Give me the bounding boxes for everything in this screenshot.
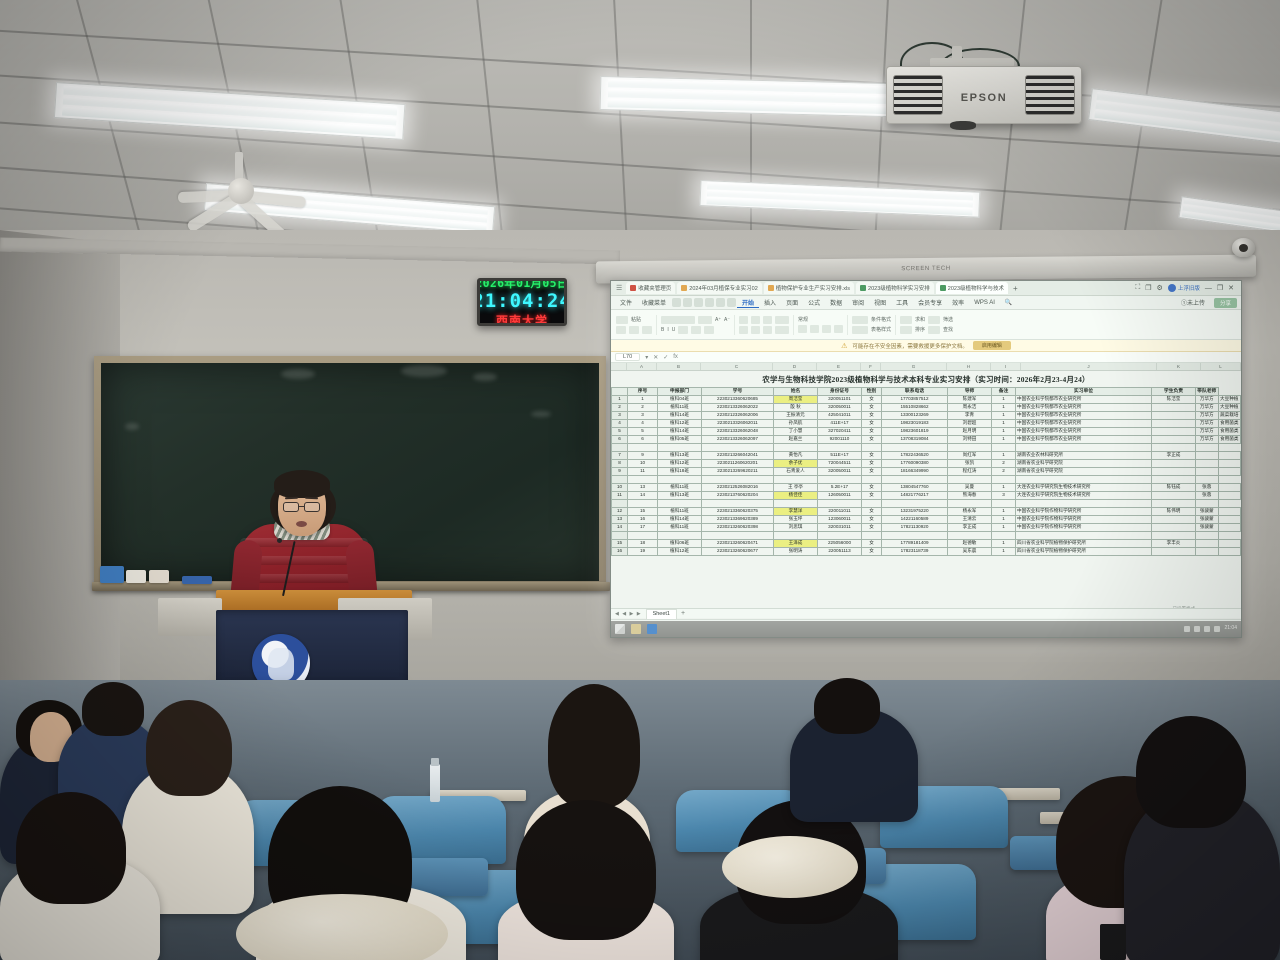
insert-function-icon[interactable]: fx xyxy=(673,354,678,360)
table-cell[interactable] xyxy=(1218,468,1241,476)
sheet-tab[interactable]: Sheet1 xyxy=(646,609,677,619)
table-cell[interactable] xyxy=(1016,476,1152,484)
table-cell[interactable]: 2230213326062048 xyxy=(702,428,774,436)
table-cell[interactable]: 2230213260620398 xyxy=(702,524,774,532)
table-row-blank[interactable] xyxy=(612,476,1241,484)
column-header-b[interactable]: B xyxy=(657,363,701,370)
table-cell[interactable] xyxy=(1196,452,1219,460)
home-icon[interactable] xyxy=(683,298,692,307)
table-cell[interactable]: 1 xyxy=(992,484,1016,492)
table-cell[interactable] xyxy=(992,444,1016,452)
filter-icon[interactable] xyxy=(928,316,940,324)
currency-icon[interactable] xyxy=(798,325,807,333)
table-cell[interactable]: 720044511 xyxy=(818,460,862,468)
undo-icon[interactable] xyxy=(716,298,725,307)
menu-item-favorites[interactable]: 收藏菜单 xyxy=(637,298,671,307)
table-cell[interactable]: 2230213326062097 xyxy=(702,436,774,444)
table-cell[interactable] xyxy=(1152,476,1196,484)
table-cell[interactable] xyxy=(948,444,992,452)
row-header[interactable]: 3 xyxy=(612,412,628,420)
chevron-down-icon[interactable]: ▾ xyxy=(645,354,648,361)
column-header-row[interactable]: A B C D E F G H I J K L xyxy=(611,363,1241,371)
table-cell[interactable]: 2230213360620375 xyxy=(702,508,774,516)
table-cell[interactable]: 植科05班 xyxy=(658,436,702,444)
column-header-f[interactable]: F xyxy=(861,363,881,370)
select-all-corner[interactable] xyxy=(611,363,627,370)
taskbar-clock[interactable]: 21:04 xyxy=(1224,626,1237,631)
table-cell[interactable]: 大豆种植 xyxy=(1218,396,1241,404)
table-cell[interactable]: 张蓉 xyxy=(1196,484,1219,492)
sheet-tab-bar[interactable]: ◀ ◀ ▶ ▶ Sheet1 + xyxy=(611,608,1241,618)
table-cell[interactable]: 2230213269620211 xyxy=(702,468,774,476)
table-cell[interactable] xyxy=(702,532,774,540)
table-cell[interactable] xyxy=(1196,476,1219,484)
table-cell[interactable]: 植科11班 xyxy=(658,404,702,412)
browser-icon[interactable] xyxy=(647,624,657,634)
fill-color-icon[interactable] xyxy=(691,326,701,334)
sum-icon[interactable] xyxy=(900,316,912,324)
copy-icon[interactable]: ❐ xyxy=(1145,284,1151,292)
new-tab-button[interactable]: + xyxy=(1010,284,1021,293)
table-cell[interactable]: 女 xyxy=(862,452,882,460)
row-header[interactable]: 15 xyxy=(612,540,628,548)
table-cell[interactable]: 1 xyxy=(992,396,1016,404)
table-cell[interactable] xyxy=(1218,452,1241,460)
battery-icon[interactable] xyxy=(1204,626,1210,632)
table-cell[interactable]: 2230213260620677 xyxy=(702,548,774,556)
font-group[interactable]: A⁺ A⁻ B I U xyxy=(661,316,730,334)
table-cell[interactable]: 320031011 xyxy=(818,524,862,532)
column-header-i[interactable]: I xyxy=(991,363,1021,370)
restore-icon[interactable]: ⛶ xyxy=(1135,284,1140,292)
table-row[interactable]: 810植科12班2230211260620201余子优720044511女177… xyxy=(612,460,1241,468)
menu-item-file[interactable]: 文件 xyxy=(615,298,637,307)
table-cell[interactable] xyxy=(1196,532,1219,540)
table-cell[interactable] xyxy=(948,476,992,484)
table-cell[interactable]: 17821130920 xyxy=(882,524,948,532)
table-cell[interactable] xyxy=(612,532,628,540)
table-body[interactable]: 11植科04班2230213360620685周洁莹320051101女1770… xyxy=(612,396,1241,556)
table-cell[interactable] xyxy=(658,444,702,452)
format-painter-icon[interactable] xyxy=(642,326,652,334)
italic-icon[interactable]: I xyxy=(667,327,668,333)
search-icon[interactable]: 🔍 xyxy=(1000,299,1017,306)
table-cell[interactable]: 中国农业科学院作物科学研究所 xyxy=(1016,524,1152,532)
row-header[interactable]: 11 xyxy=(612,492,628,500)
internship-table[interactable]: 序号 申报部门 学号 姓名 身份证号 性别 联系电话 导师 备注 实习单位 学生… xyxy=(611,387,1241,556)
table-cell[interactable] xyxy=(882,532,948,540)
font-size-select[interactable] xyxy=(698,316,712,324)
column-header-g[interactable]: G xyxy=(881,363,947,370)
maximize-button[interactable]: ❐ xyxy=(1217,284,1223,292)
table-cell[interactable]: 1 xyxy=(992,436,1016,444)
row-header[interactable]: 5 xyxy=(612,428,628,436)
table-cell[interactable]: 2230211260620201 xyxy=(702,460,774,468)
volume-icon[interactable] xyxy=(1194,626,1200,632)
table-cell[interactable]: 植科12班 xyxy=(658,548,702,556)
table-cell[interactable]: 石青爱人 xyxy=(774,468,818,476)
table-cell[interactable]: 511E+17 xyxy=(818,452,862,460)
hamburger-icon[interactable]: ☰ xyxy=(614,284,624,292)
table-cell[interactable]: 17 xyxy=(628,524,658,532)
table-cell[interactable]: 225056000 xyxy=(818,540,862,548)
table-cell[interactable]: 食用菌类 xyxy=(1218,428,1241,436)
table-cell[interactable]: 17703857512 xyxy=(882,396,948,404)
table-cell[interactable] xyxy=(818,444,862,452)
border-icon[interactable] xyxy=(678,326,688,334)
row-header[interactable]: 14 xyxy=(612,524,628,532)
column-header-c[interactable]: C xyxy=(701,363,773,370)
table-cell[interactable]: 陈伟明 xyxy=(1152,508,1196,516)
cancel-formula-icon[interactable]: ✕ xyxy=(653,354,658,361)
table-cell[interactable] xyxy=(862,444,882,452)
accept-formula-icon[interactable]: ✓ xyxy=(663,354,668,361)
table-cell[interactable]: 植科14班 xyxy=(658,516,702,524)
table-cell[interactable]: 中国农业科学院都市农业研究所 xyxy=(1016,412,1152,420)
table-cell[interactable]: 吴曼 xyxy=(948,484,992,492)
table-cell[interactable] xyxy=(774,444,818,452)
table-cell[interactable]: 5.2E+17 xyxy=(818,484,862,492)
table-cell[interactable] xyxy=(862,532,882,540)
table-cell[interactable]: 2230212526082016 xyxy=(702,484,774,492)
table-cell[interactable]: 6 xyxy=(628,436,658,444)
table-row[interactable]: 1013植科11班2230212526082016王 亭亭5.2E+17女138… xyxy=(612,484,1241,492)
table-row[interactable]: 55植科14班2230213326062048丁小慧327020411女1982… xyxy=(612,428,1241,436)
table-cell[interactable]: 18166349990 xyxy=(882,468,948,476)
sort-icon[interactable] xyxy=(900,326,912,334)
table-row[interactable]: 66植科05班2230213326062097赵嘉兰92001110女13708… xyxy=(612,436,1241,444)
table-cell[interactable] xyxy=(1152,468,1196,476)
table-cell[interactable]: 中国农业科学院都市农业研究所 xyxy=(1016,404,1152,412)
window-controls[interactable]: ⛶ ❐ ⚙ 上浮旧版 — ❐ ✕ xyxy=(1135,284,1238,292)
table-cell[interactable]: 女 xyxy=(862,508,882,516)
table-cell[interactable]: 李正成 xyxy=(948,524,992,532)
table-cell[interactable]: 李丰炎 xyxy=(1152,540,1196,548)
table-cell[interactable] xyxy=(1152,436,1196,444)
table-cell[interactable] xyxy=(612,500,628,508)
row-header[interactable]: 2 xyxy=(612,404,628,412)
table-cell[interactable]: 王 亭亭 xyxy=(774,484,818,492)
table-cell[interactable] xyxy=(702,476,774,484)
menu-item-member[interactable]: 会员专享 xyxy=(913,298,947,307)
table-cell[interactable]: 1 xyxy=(992,412,1016,420)
table-cell[interactable]: 5 xyxy=(628,428,658,436)
table-cell[interactable] xyxy=(1152,524,1196,532)
table-cell[interactable]: 张玉坪 xyxy=(774,516,818,524)
table-cell[interactable] xyxy=(1152,548,1196,556)
table-cell[interactable]: 2230213266042041 xyxy=(702,452,774,460)
table-cell[interactable]: 杨佳佳 xyxy=(774,492,818,500)
browser-tab-bar[interactable]: ☰ 收藏夹管理页 2024年03月植保专业实习02 植物保护专业生产实习安排.x… xyxy=(611,281,1241,296)
table-cell[interactable]: 李正成 xyxy=(1152,452,1196,460)
table-cell[interactable]: 220051113 xyxy=(818,548,862,556)
underline-icon[interactable]: U xyxy=(672,327,676,333)
table-cell[interactable]: 320050011 xyxy=(818,404,862,412)
table-cell[interactable]: 19823019183 xyxy=(882,420,948,428)
table-cell[interactable]: 女 xyxy=(862,436,882,444)
bold-icon[interactable]: B xyxy=(661,327,664,333)
clipboard-group[interactable]: 粘贴 xyxy=(616,316,652,334)
decimal-icon[interactable] xyxy=(834,325,843,333)
table-row[interactable]: 33植科14班2230212326062006王振清元425041011女133… xyxy=(612,412,1241,420)
share-button[interactable]: 分享 xyxy=(1214,298,1237,308)
styles-group[interactable]: 条件格式 表格样式 xyxy=(852,316,891,334)
add-sheet-button[interactable]: + xyxy=(681,610,685,617)
table-cell[interactable]: 2230213360620685 xyxy=(702,396,774,404)
table-cell[interactable] xyxy=(1218,460,1241,468)
table-cell[interactable]: 万华方 xyxy=(1196,412,1219,420)
table-cell[interactable]: 13231975220 xyxy=(882,508,948,516)
table-cell[interactable]: 女 xyxy=(862,428,882,436)
table-cell[interactable]: 王振清元 xyxy=(774,412,818,420)
table-cell[interactable]: 2230213760620204 xyxy=(702,492,774,500)
table-cell[interactable]: 张蓉 xyxy=(1196,492,1219,500)
table-cell[interactable]: 2 xyxy=(992,468,1016,476)
table-cell[interactable] xyxy=(948,500,992,508)
table-cell[interactable]: 2230212326062006 xyxy=(702,412,774,420)
font-shrink-icon[interactable]: A⁻ xyxy=(724,317,730,323)
table-cell[interactable] xyxy=(774,476,818,484)
table-cell[interactable]: 女 xyxy=(862,524,882,532)
table-cell[interactable]: 刘碧超 xyxy=(948,420,992,428)
table-row-blank[interactable] xyxy=(612,500,1241,508)
table-cell[interactable]: 中国农业科学院都市农业研究所 xyxy=(1016,436,1152,444)
table-cell[interactable]: 赵嘉兰 xyxy=(774,436,818,444)
browser-tab[interactable]: 植物保护专业生产实习安排.xls xyxy=(764,282,854,294)
table-cell[interactable]: 尚红军 xyxy=(948,452,992,460)
table-cell[interactable]: 17789181409 xyxy=(882,540,948,548)
settings-icon[interactable]: ⚙ xyxy=(1157,284,1163,292)
table-cell[interactable] xyxy=(1196,500,1219,508)
browser-tab[interactable]: 收藏夹管理页 xyxy=(626,282,675,294)
ribbon-menu-bar[interactable]: 文件 收藏菜单 开始 插入 页面 公式 数据 审阅 视图 工具 会员专享 效率 … xyxy=(611,296,1241,310)
browser-tab-active[interactable]: 2023级植物科学与技术 xyxy=(936,282,1008,294)
table-cell[interactable]: 赵德敏 xyxy=(948,540,992,548)
table-cell[interactable]: 1 xyxy=(992,516,1016,524)
table-cell[interactable]: 13708319084 xyxy=(882,436,948,444)
font-color-icon[interactable] xyxy=(704,326,714,334)
table-cell[interactable] xyxy=(1152,444,1196,452)
table-row[interactable]: 1215植科11班2230213360620375李慧洋220011011女13… xyxy=(612,508,1241,516)
row-header[interactable]: 7 xyxy=(612,452,628,460)
table-cell[interactable]: 万华方 xyxy=(1196,420,1219,428)
table-cell[interactable] xyxy=(702,500,774,508)
table-cell[interactable] xyxy=(992,532,1016,540)
table-cell[interactable] xyxy=(862,500,882,508)
table-cell[interactable]: 17823118739 xyxy=(882,548,948,556)
table-cell[interactable] xyxy=(1218,540,1241,548)
table-cell[interactable]: 14 xyxy=(628,492,658,500)
browser-tab[interactable]: 2023级植物科学实习安排 xyxy=(856,282,934,294)
table-cell[interactable]: 万华方 xyxy=(1196,396,1219,404)
table-cell[interactable] xyxy=(1218,524,1241,532)
table-cell[interactable] xyxy=(612,444,628,452)
cells-group[interactable]: 求和 筛选 排序 查找 xyxy=(900,316,953,334)
table-cell[interactable]: 19 xyxy=(628,548,658,556)
table-row[interactable]: 1316植科14班2230213369620389张玉坪123060011女14… xyxy=(612,516,1241,524)
table-cell[interactable]: 湖南农业农林科研究所 xyxy=(1016,452,1152,460)
row-header[interactable]: 12 xyxy=(612,508,628,516)
table-cell[interactable]: 女 xyxy=(862,540,882,548)
table-cell[interactable] xyxy=(862,476,882,484)
toggle-icon[interactable] xyxy=(672,298,681,307)
percent-icon[interactable] xyxy=(810,325,819,333)
table-cell[interactable]: 3 xyxy=(628,412,658,420)
table-cell[interactable]: 周洁莹 xyxy=(774,396,818,404)
column-header-l[interactable]: L xyxy=(1201,363,1241,370)
conditional-format-icon[interactable] xyxy=(852,316,868,324)
row-header[interactable]: 1 xyxy=(612,396,628,404)
table-cell[interactable]: 四川省农业科学院植物保护研究所 xyxy=(1016,548,1152,556)
table-cell[interactable] xyxy=(1152,404,1196,412)
table-cell[interactable]: 程红涛 xyxy=(948,468,992,476)
table-cell[interactable]: 92001110 xyxy=(818,436,862,444)
row-height-icon[interactable] xyxy=(775,326,789,334)
file-explorer-icon[interactable] xyxy=(631,624,641,634)
merge-cells-icon[interactable] xyxy=(775,316,789,324)
table-cell[interactable]: 植科13班 xyxy=(658,492,702,500)
table-cell[interactable]: 丁小慧 xyxy=(774,428,818,436)
table-cell[interactable]: 123060011 xyxy=(818,516,862,524)
table-cell[interactable]: 李青 xyxy=(948,412,992,420)
table-cell[interactable]: 220011011 xyxy=(818,508,862,516)
table-cell[interactable]: 14221160589 xyxy=(882,516,948,524)
name-box[interactable]: L70 xyxy=(615,353,640,361)
table-cell[interactable]: 植科14班 xyxy=(658,428,702,436)
table-cell[interactable] xyxy=(628,476,658,484)
table-cell[interactable]: 320051101 xyxy=(818,396,862,404)
find-icon[interactable] xyxy=(928,326,940,334)
table-cell[interactable] xyxy=(1152,420,1196,428)
menu-item-start[interactable]: 开始 xyxy=(737,298,759,308)
table-cell[interactable]: 2 xyxy=(628,404,658,412)
close-button[interactable]: ✕ xyxy=(1228,284,1234,292)
table-cell[interactable]: 中国农业科学院作物科学研究所 xyxy=(1016,516,1152,524)
print-icon[interactable] xyxy=(705,298,714,307)
table-cell[interactable]: 李慧洋 xyxy=(774,508,818,516)
table-cell[interactable]: 黄怡凡 xyxy=(774,452,818,460)
table-cell[interactable]: 1 xyxy=(992,452,1016,460)
table-cell[interactable]: 刘特田 xyxy=(948,436,992,444)
formula-bar[interactable]: L70 ▾ ✕ ✓ fx xyxy=(611,352,1241,363)
table-cell[interactable]: 周永洁 xyxy=(948,404,992,412)
table-row-blank[interactable] xyxy=(612,444,1241,452)
table-cell[interactable]: 9 xyxy=(628,452,658,460)
table-cell[interactable] xyxy=(1218,548,1241,556)
table-cell[interactable] xyxy=(1152,428,1196,436)
table-cell[interactable] xyxy=(1218,492,1241,500)
table-row[interactable]: 1114植科13班2230213760620204杨佳佳126050011女14… xyxy=(612,492,1241,500)
outdent-icon[interactable] xyxy=(763,326,772,334)
table-row[interactable]: 1417植科11班2230213260620398刘思琪320031011女17… xyxy=(612,524,1241,532)
table-cell[interactable]: 中国农业科学院都市农业研究所 xyxy=(1016,420,1152,428)
table-cell[interactable] xyxy=(1016,532,1152,540)
table-cell[interactable] xyxy=(882,444,948,452)
table-cell[interactable] xyxy=(818,500,862,508)
table-cell[interactable]: 吴东晨 xyxy=(948,548,992,556)
table-cell[interactable]: 植科12班 xyxy=(658,420,702,428)
table-cell[interactable]: 植科11班 xyxy=(658,484,702,492)
windows-start-icon[interactable] xyxy=(615,624,625,634)
table-cell[interactable]: 1 xyxy=(992,540,1016,548)
table-cell[interactable]: 1 xyxy=(628,396,658,404)
ime-icon[interactable] xyxy=(1214,626,1220,632)
table-cell[interactable] xyxy=(1016,444,1152,452)
account-chip[interactable]: 上浮旧版 xyxy=(1168,284,1200,292)
number-group[interactable]: 常规 xyxy=(798,316,843,333)
protected-view-bar[interactable]: ⚠ 可能存在不安全因素，需要救援更多保护文档。 启用编辑 xyxy=(611,340,1241,352)
table-cell[interactable]: 湖南省农业科学研究院 xyxy=(1016,468,1152,476)
table-cell[interactable]: 张明涛 xyxy=(774,548,818,556)
table-cell[interactable]: 1 xyxy=(992,548,1016,556)
table-cell[interactable]: 植科13班 xyxy=(658,452,702,460)
cut-icon[interactable] xyxy=(616,326,626,334)
table-cell[interactable]: 2230213369620389 xyxy=(702,516,774,524)
row-header[interactable]: 10 xyxy=(612,484,628,492)
table-cell[interactable] xyxy=(1218,516,1241,524)
table-cell[interactable]: 425041011 xyxy=(818,412,862,420)
table-cell[interactable]: 411E+17 xyxy=(818,420,862,428)
table-cell[interactable]: 植科11班 xyxy=(658,508,702,516)
table-cell[interactable] xyxy=(702,444,774,452)
spreadsheet-grid[interactable]: A B C D E F G H I J K L 农学与生物科技学院2023级植物… xyxy=(611,363,1241,618)
column-header-k[interactable]: K xyxy=(1157,363,1201,370)
table-cell[interactable]: 陈洁莹 xyxy=(1152,396,1196,404)
align-left-icon[interactable] xyxy=(739,316,748,324)
table-cell[interactable]: 1 xyxy=(992,524,1016,532)
table-row-blank[interactable] xyxy=(612,532,1241,540)
table-cell[interactable]: 张凯 xyxy=(948,460,992,468)
table-cell[interactable]: 大豆种植 xyxy=(1218,404,1241,412)
table-row[interactable]: 11植科04班2230213360620685周洁莹320051101女1770… xyxy=(612,396,1241,404)
table-cell[interactable]: 植科11班 xyxy=(658,524,702,532)
column-header-d[interactable]: D xyxy=(773,363,817,370)
align-center-icon[interactable] xyxy=(751,316,760,324)
row-header[interactable]: 16 xyxy=(612,548,628,556)
table-cell[interactable]: 植科12班 xyxy=(658,460,702,468)
table-cell[interactable]: 15 xyxy=(628,508,658,516)
table-cell[interactable]: 4 xyxy=(628,420,658,428)
column-header-a[interactable]: A xyxy=(627,363,657,370)
table-cell[interactable]: 赵月明 xyxy=(948,428,992,436)
column-header-j[interactable]: J xyxy=(1021,363,1157,370)
table-cell[interactable] xyxy=(818,476,862,484)
table-cell[interactable]: 植科18班 xyxy=(658,468,702,476)
indent-icon[interactable] xyxy=(751,326,760,334)
table-row[interactable]: 911植科18班2230213269620211石青爱人320050011女18… xyxy=(612,468,1241,476)
wrap-text-icon[interactable] xyxy=(739,326,748,334)
comma-icon[interactable] xyxy=(822,325,831,333)
table-cell[interactable] xyxy=(882,476,948,484)
table-cell[interactable]: 大连农业科学研究院生物技术研究所 xyxy=(1016,492,1152,500)
table-cell[interactable]: 女 xyxy=(862,484,882,492)
enable-editing-button[interactable]: 启用编辑 xyxy=(973,341,1011,350)
table-row[interactable]: 79植科13班2230213266042041黄怡凡511E+17女178224… xyxy=(612,452,1241,460)
table-cell[interactable]: 1 xyxy=(992,404,1016,412)
table-cell[interactable]: 2230213326062011 xyxy=(702,420,774,428)
table-cell[interactable]: 3 xyxy=(992,492,1016,500)
row-header[interactable]: 13 xyxy=(612,516,628,524)
table-cell[interactable] xyxy=(658,476,702,484)
table-cell[interactable]: 中国农业科学院作物科学研究所 xyxy=(1016,508,1152,516)
table-cell[interactable]: 126050011 xyxy=(818,492,862,500)
table-cell[interactable]: 陈建军 xyxy=(948,396,992,404)
table-cell[interactable]: 女 xyxy=(862,516,882,524)
row-header[interactable]: 8 xyxy=(612,460,628,468)
table-cell[interactable]: 张骏蒙 xyxy=(1196,508,1219,516)
ribbon-toolbar[interactable]: 粘贴 A⁺ A⁻ B I U xyxy=(611,310,1241,340)
table-cell[interactable]: 植科04班 xyxy=(658,396,702,404)
